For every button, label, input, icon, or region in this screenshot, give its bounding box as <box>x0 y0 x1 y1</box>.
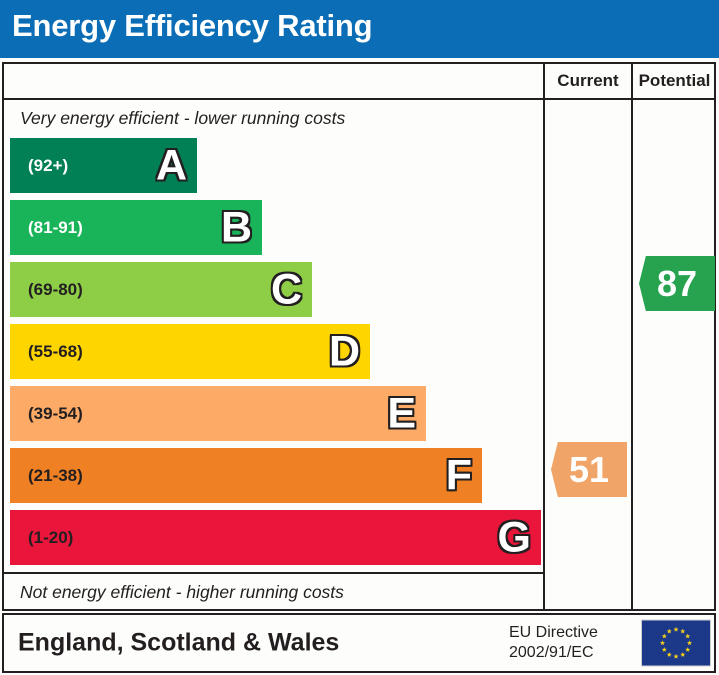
chart-title-bar: Energy Efficiency Rating <box>0 0 719 58</box>
caption-very-efficient: Very energy efficient - lower running co… <box>4 100 543 136</box>
chart-footer: England, Scotland & Wales EU Directive 2… <box>2 613 716 673</box>
band-letter-c: C <box>271 268 302 311</box>
eu-flag-icon <box>641 620 711 667</box>
rating-band-g: (1-20)G <box>10 510 541 565</box>
band-range-label: (1-20) <box>28 528 73 548</box>
column-header-current: Current <box>545 64 631 98</box>
rating-marker-potential: 87 <box>639 256 715 311</box>
band-letter-b: B <box>221 206 252 249</box>
rating-band-a: (92+)A <box>10 138 197 193</box>
rating-bands: (92+)A(81-91)B(69-80)C(55-68)D(39-54)E(2… <box>4 138 543 572</box>
band-letter-a: A <box>156 144 187 187</box>
band-letter-d: D <box>329 330 360 373</box>
rating-marker-current: 51 <box>551 442 627 497</box>
caption-not-efficient: Not energy efficient - higher running co… <box>4 572 543 608</box>
band-letter-g: G <box>498 516 531 559</box>
column-divider-current <box>543 64 545 609</box>
band-range-label: (81-91) <box>28 218 83 238</box>
rating-band-b: (81-91)B <box>10 200 262 255</box>
eu-directive-label: EU Directive 2002/91/EC <box>509 623 598 663</box>
band-letter-f: F <box>446 454 472 497</box>
rating-table: Current Potential Very energy efficient … <box>2 62 716 611</box>
rating-band-e: (39-54)E <box>10 386 426 441</box>
eu-directive-line2: 2002/91/EC <box>509 643 598 663</box>
band-range-label: (92+) <box>28 156 68 176</box>
eu-directive-line1: EU Directive <box>509 623 598 643</box>
rating-band-c: (69-80)C <box>10 262 312 317</box>
region-label: England, Scotland & Wales <box>18 629 339 658</box>
column-header-potential: Potential <box>633 64 716 98</box>
eu-flag-stars-icon <box>642 621 710 666</box>
rating-band-f: (21-38)F <box>10 448 482 503</box>
page-title: Energy Efficiency Rating <box>12 8 372 44</box>
energy-efficiency-rating-chart: Energy Efficiency Rating Current Potenti… <box>0 0 719 675</box>
band-range-label: (55-68) <box>28 342 83 362</box>
rating-band-d: (55-68)D <box>10 324 370 379</box>
band-range-label: (69-80) <box>28 280 83 300</box>
column-header-row: Current Potential <box>4 64 714 100</box>
band-letter-e: E <box>387 392 416 435</box>
band-range-label: (39-54) <box>28 404 83 424</box>
band-range-label: (21-38) <box>28 466 83 486</box>
column-divider-potential <box>631 64 633 609</box>
